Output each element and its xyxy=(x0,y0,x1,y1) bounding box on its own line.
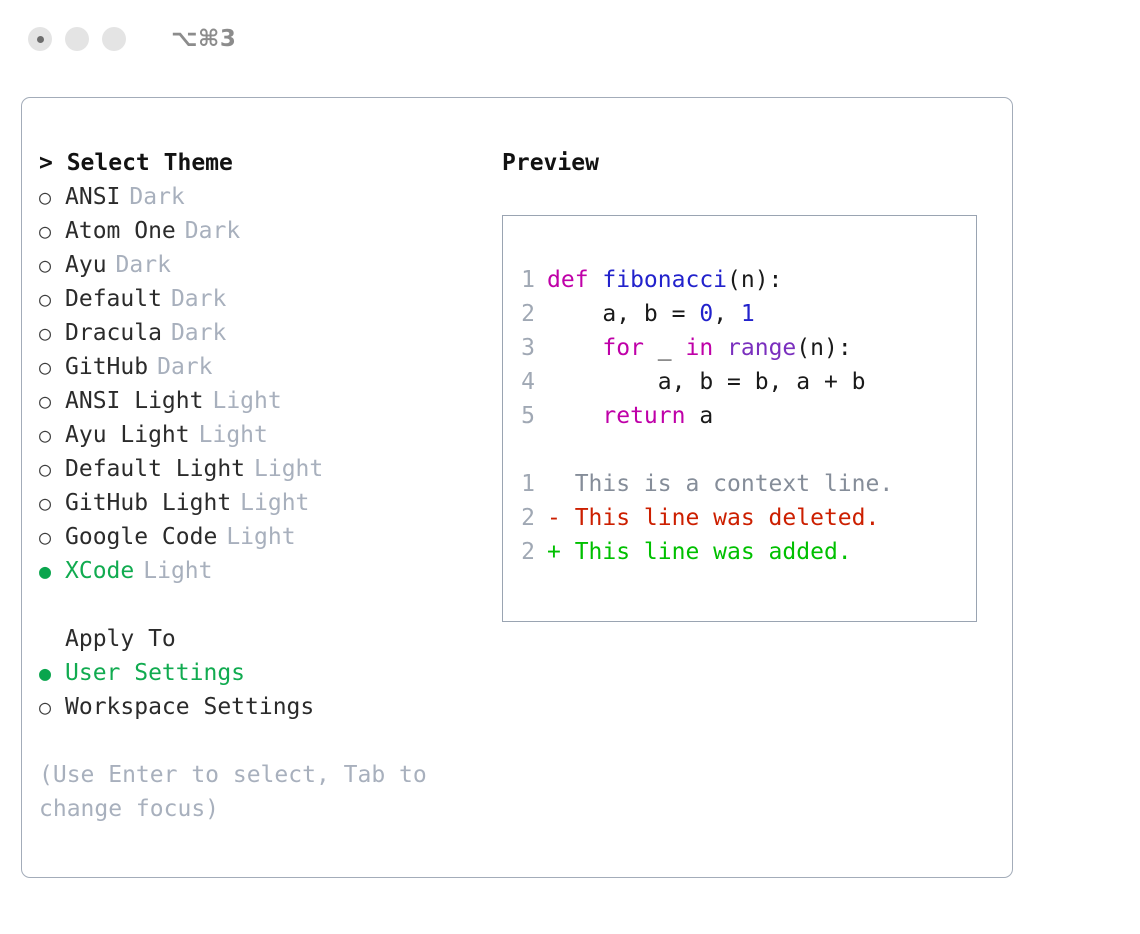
option-tag: Dark xyxy=(120,180,184,214)
radio-unselected-icon: ○ xyxy=(39,384,65,418)
code-line-text: def fibonacci(n): xyxy=(547,263,782,297)
token-plain xyxy=(547,335,602,361)
radio-unselected-icon: ○ xyxy=(39,486,65,520)
apply-option-user-settings[interactable]: ●User Settings xyxy=(39,656,492,690)
code-line-text: a, b = 0, 1 xyxy=(547,297,755,331)
radio-unselected-icon: ○ xyxy=(39,316,65,350)
line-number: 3 xyxy=(503,331,547,365)
select-theme-heading: > Select Theme xyxy=(39,146,492,180)
code-line-text: return a xyxy=(547,399,713,433)
preview-column: Preview 1def fibonacci(n):2 a, b = 0, 13… xyxy=(492,98,1012,877)
token-plain xyxy=(713,335,727,361)
option-label: Default Light xyxy=(65,452,245,486)
radio-unselected-icon: ○ xyxy=(39,180,65,214)
radio-unselected-icon: ○ xyxy=(39,214,65,248)
code-line: 3 for _ in range(n): xyxy=(503,331,976,365)
option-label: Ayu Light xyxy=(65,418,190,452)
token-num: 0 xyxy=(699,301,713,327)
theme-selection-column: > Select Theme ○ANSIDark○Atom OneDark○Ay… xyxy=(22,98,492,877)
line-number: 2 xyxy=(503,501,547,535)
code-line: 1def fibonacci(n): xyxy=(503,263,976,297)
code-sample: 1def fibonacci(n):2 a, b = 0, 13 for _ i… xyxy=(503,263,976,433)
radio-selected-icon: ● xyxy=(39,554,65,588)
token-plain: _ xyxy=(644,335,686,361)
code-line: 4 a, b = b, a + b xyxy=(503,365,976,399)
option-tag: Light xyxy=(231,486,309,520)
apply-to-heading: Apply To xyxy=(39,622,492,656)
code-preview-box: 1def fibonacci(n):2 a, b = 0, 13 for _ i… xyxy=(502,215,977,622)
option-label: Atom One xyxy=(65,214,176,248)
radio-unselected-icon: ○ xyxy=(39,690,65,724)
token-plain: , xyxy=(713,301,741,327)
option-label: GitHub xyxy=(65,350,148,384)
option-label: Workspace Settings xyxy=(65,690,314,724)
line-number: 5 xyxy=(503,399,547,433)
window-dot-active[interactable] xyxy=(28,27,52,51)
code-line-text: for _ in range(n): xyxy=(547,331,852,365)
option-tag: Dark xyxy=(148,350,212,384)
code-diff-spacer xyxy=(503,433,976,467)
line-number: 4 xyxy=(503,365,547,399)
option-tag: Light xyxy=(134,554,212,588)
code-line: 2 a, b = 0, 1 xyxy=(503,297,976,331)
theme-option-github-light[interactable]: ○GitHub LightLight xyxy=(39,486,492,520)
diff-line: 2+ This line was added. xyxy=(503,535,976,569)
theme-option-default-light[interactable]: ○Default LightLight xyxy=(39,452,492,486)
token-plain: a, b = b, a + b xyxy=(547,369,866,395)
keyboard-hint-text: (Use Enter to select, Tab to change focu… xyxy=(39,758,449,826)
theme-option-xcode[interactable]: ●XCodeLight xyxy=(39,554,492,588)
option-label: Default xyxy=(65,282,162,316)
option-tag: Light xyxy=(217,520,295,554)
diff-line: 1 This is a context line. xyxy=(503,467,976,501)
window-dot-third[interactable] xyxy=(102,27,126,51)
token-plain xyxy=(547,403,602,429)
token-plain: a xyxy=(685,403,713,429)
option-label: ANSI Light xyxy=(65,384,203,418)
token-kw: return xyxy=(602,403,685,429)
token-kw: for xyxy=(602,335,644,361)
app-window: ⌥⌘3 > Select Theme ○ANSIDark○Atom OneDar… xyxy=(0,0,1140,934)
option-label: User Settings xyxy=(65,656,245,690)
theme-option-github[interactable]: ○GitHubDark xyxy=(39,350,492,384)
option-tag: Dark xyxy=(176,214,240,248)
option-label: Ayu xyxy=(65,248,107,282)
radio-unselected-icon: ○ xyxy=(39,248,65,282)
radio-selected-icon: ● xyxy=(39,656,65,690)
apply-option-workspace-settings[interactable]: ○Workspace Settings xyxy=(39,690,492,724)
code-line: 5 return a xyxy=(503,399,976,433)
theme-option-ayu[interactable]: ○AyuDark xyxy=(39,248,492,282)
option-label: XCode xyxy=(65,554,134,588)
line-number: 2 xyxy=(503,535,547,569)
line-number: 2 xyxy=(503,297,547,331)
option-label: Dracula xyxy=(65,316,162,350)
keyboard-shortcut-label: ⌥⌘3 xyxy=(171,26,236,52)
option-tag: Dark xyxy=(162,282,226,316)
radio-unselected-icon: ○ xyxy=(39,520,65,554)
option-tag: Light xyxy=(245,452,323,486)
apply-to-option-list: ●User Settings○Workspace Settings xyxy=(39,656,492,724)
token-num: 1 xyxy=(741,301,755,327)
option-tag: Light xyxy=(190,418,268,452)
token-fn: fibonacci xyxy=(602,267,727,293)
theme-option-ayu-light[interactable]: ○Ayu LightLight xyxy=(39,418,492,452)
token-kw: in xyxy=(685,335,713,361)
code-line-text: a, b = b, a + b xyxy=(547,365,866,399)
diff-line-text: This is a context line. xyxy=(547,467,893,501)
option-label: Google Code xyxy=(65,520,217,554)
theme-option-default[interactable]: ○DefaultDark xyxy=(39,282,492,316)
line-number: 1 xyxy=(503,263,547,297)
radio-unselected-icon: ○ xyxy=(39,452,65,486)
diff-line-text: - This line was deleted. xyxy=(547,501,879,535)
diff-sample: 1 This is a context line.2- This line wa… xyxy=(503,467,976,569)
theme-option-dracula[interactable]: ○DraculaDark xyxy=(39,316,492,350)
window-dot-second[interactable] xyxy=(65,27,89,51)
radio-unselected-icon: ○ xyxy=(39,350,65,384)
option-tag: Light xyxy=(203,384,281,418)
token-kw: def xyxy=(547,267,602,293)
option-tag: Dark xyxy=(107,248,171,282)
token-plain: (n): xyxy=(727,267,782,293)
token-builtin: range xyxy=(727,335,796,361)
option-tag: Dark xyxy=(162,316,226,350)
column-spacer xyxy=(39,588,492,622)
radio-unselected-icon: ○ xyxy=(39,418,65,452)
token-plain: (n): xyxy=(796,335,851,361)
radio-unselected-icon: ○ xyxy=(39,282,65,316)
theme-option-ansi[interactable]: ○ANSIDark xyxy=(39,180,492,214)
diff-line-text: + This line was added. xyxy=(547,535,852,569)
theme-option-atom-one[interactable]: ○Atom OneDark xyxy=(39,214,492,248)
preview-heading: Preview xyxy=(502,146,1012,180)
diff-line: 2- This line was deleted. xyxy=(503,501,976,535)
main-panel: > Select Theme ○ANSIDark○Atom OneDark○Ay… xyxy=(21,97,1013,878)
option-label: ANSI xyxy=(65,180,120,214)
theme-option-ansi-light[interactable]: ○ANSI LightLight xyxy=(39,384,492,418)
theme-option-google-code[interactable]: ○Google CodeLight xyxy=(39,520,492,554)
token-plain: a, b = xyxy=(547,301,699,327)
line-number: 1 xyxy=(503,467,547,501)
window-controls xyxy=(28,27,126,51)
theme-option-list: ○ANSIDark○Atom OneDark○AyuDark○DefaultDa… xyxy=(39,180,492,588)
option-label: GitHub Light xyxy=(65,486,231,520)
title-bar: ⌥⌘3 xyxy=(0,0,1140,78)
